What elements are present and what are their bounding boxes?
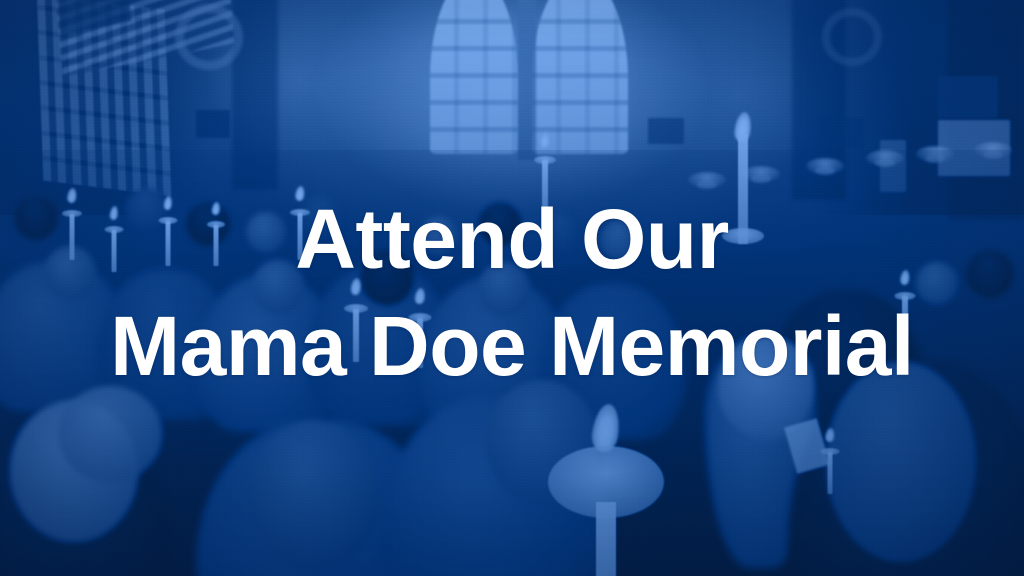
memorial-banner: Attend Our Mama Doe Memorial [0, 0, 1024, 576]
background-photo [0, 0, 1024, 576]
vignette-overlay [0, 0, 1024, 576]
